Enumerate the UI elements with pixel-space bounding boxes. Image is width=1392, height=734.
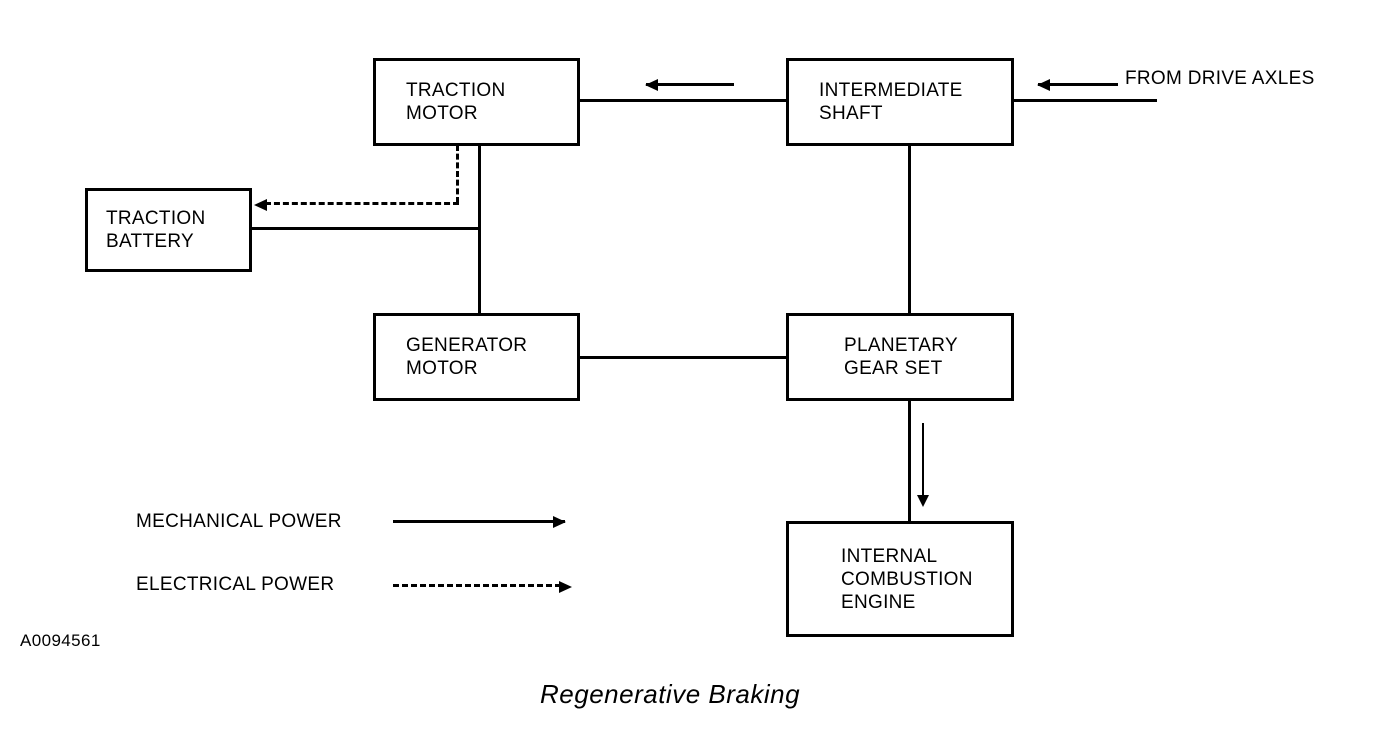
- arrow-shaft-to-traction-motor: [646, 83, 734, 86]
- node-traction-motor-line1: TRACTION: [406, 79, 506, 102]
- node-traction-battery-line2: BATTERY: [106, 230, 194, 253]
- node-planetary-gear-set-line2: GEAR SET: [844, 357, 942, 380]
- node-generator-motor-line1: GENERATOR: [406, 334, 527, 357]
- arrow-planetary-gear-set-to-engine: [922, 423, 924, 497]
- node-internal-combustion-engine-line2: COMBUSTION: [841, 568, 973, 591]
- figure-caption: Regenerative Braking: [540, 679, 800, 710]
- node-generator-motor[interactable]: GENERATOR MOTOR: [373, 313, 580, 401]
- node-internal-combustion-engine-line3: ENGINE: [841, 591, 916, 614]
- connector-shaft-to-planetary-gear-set: [908, 143, 911, 316]
- node-traction-battery[interactable]: TRACTION BATTERY: [85, 188, 252, 272]
- node-intermediate-shaft-line2: SHAFT: [819, 102, 883, 125]
- node-traction-motor[interactable]: TRACTION MOTOR: [373, 58, 580, 146]
- figure-id-label: A0094561: [20, 631, 101, 651]
- node-intermediate-shaft-line1: INTERMEDIATE: [819, 79, 963, 102]
- label-from-drive-axles: FROM DRIVE AXLES: [1125, 68, 1315, 90]
- node-planetary-gear-set[interactable]: PLANETARY GEAR SET: [786, 313, 1014, 401]
- connector-electrical-vertical: [456, 145, 459, 203]
- diagram-canvas: TRACTION MOTOR INTERMEDIATE SHAFT TRACTI…: [0, 0, 1392, 734]
- node-traction-motor-line2: MOTOR: [406, 102, 478, 125]
- legend-label-electrical-power: ELECTRICAL POWER: [136, 574, 334, 596]
- connector-electrical-to-traction-battery: [265, 202, 459, 205]
- node-planetary-gear-set-line1: PLANETARY: [844, 334, 958, 357]
- legend-swatch-mechanical-power: [393, 520, 565, 523]
- node-traction-battery-line1: TRACTION: [106, 207, 206, 230]
- connector-from-drive-axles: [1011, 99, 1157, 102]
- connector-traction-battery-bus: [250, 227, 481, 230]
- node-internal-combustion-engine-line1: INTERNAL: [841, 545, 937, 568]
- node-intermediate-shaft[interactable]: INTERMEDIATE SHAFT: [786, 58, 1014, 146]
- connector-shaft-to-traction-motor: [577, 99, 789, 102]
- arrow-from-drive-axles: [1038, 83, 1118, 86]
- node-generator-motor-line2: MOTOR: [406, 357, 478, 380]
- legend-label-mechanical-power: MECHANICAL POWER: [136, 511, 342, 533]
- connector-generator-motor-to-planetary-gear-set: [577, 356, 789, 359]
- legend-swatch-electrical-power: [393, 584, 561, 587]
- node-internal-combustion-engine[interactable]: INTERNAL COMBUSTION ENGINE: [786, 521, 1014, 637]
- connector-planetary-gear-set-to-engine: [908, 398, 911, 524]
